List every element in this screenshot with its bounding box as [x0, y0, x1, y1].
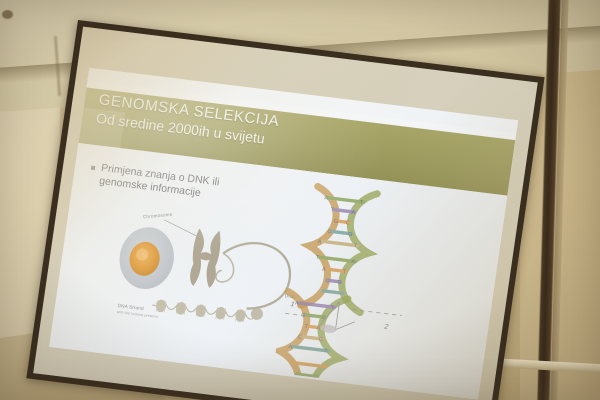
projected-image: GENOMSKA SELEKCIJA Od sredine 2000ih u s…	[49, 68, 518, 400]
room-scene: GENOMSKA SELEKCIJA Od sredine 2000ih u s…	[0, 0, 600, 400]
svg-text:G: G	[337, 280, 342, 286]
helix-1-number: 1	[290, 301, 295, 308]
screen-surface: GENOMSKA SELEKCIJA Od sredine 2000ih u s…	[33, 27, 538, 400]
projection-screen: GENOMSKA SELEKCIJA Od sredine 2000ih u s…	[26, 20, 544, 400]
svg-text:G: G	[318, 337, 323, 343]
svg-text:C: C	[327, 229, 332, 235]
ceiling-spot-icon	[2, 10, 13, 19]
bullet-item: Primjena znanja o DNK ili genomske infor…	[88, 161, 320, 215]
bullet-text: Primjena znanja o DNK ili genomske infor…	[98, 162, 220, 202]
svg-text:A: A	[324, 195, 329, 201]
svg-text:A: A	[351, 259, 356, 265]
slide: GENOMSKA SELEKCIJA Od sredine 2000ih u s…	[49, 68, 518, 400]
svg-text:G: G	[348, 232, 353, 238]
dna-helix-svg: AT TA GC CG AT TA AT CG	[273, 174, 500, 396]
dna-double-helix-pair: AT TA GC CG AT TA AT CG	[273, 174, 500, 396]
svg-text:G: G	[333, 219, 338, 225]
square-bullet-icon	[91, 166, 96, 170]
helix-2-number: 2	[383, 323, 389, 331]
